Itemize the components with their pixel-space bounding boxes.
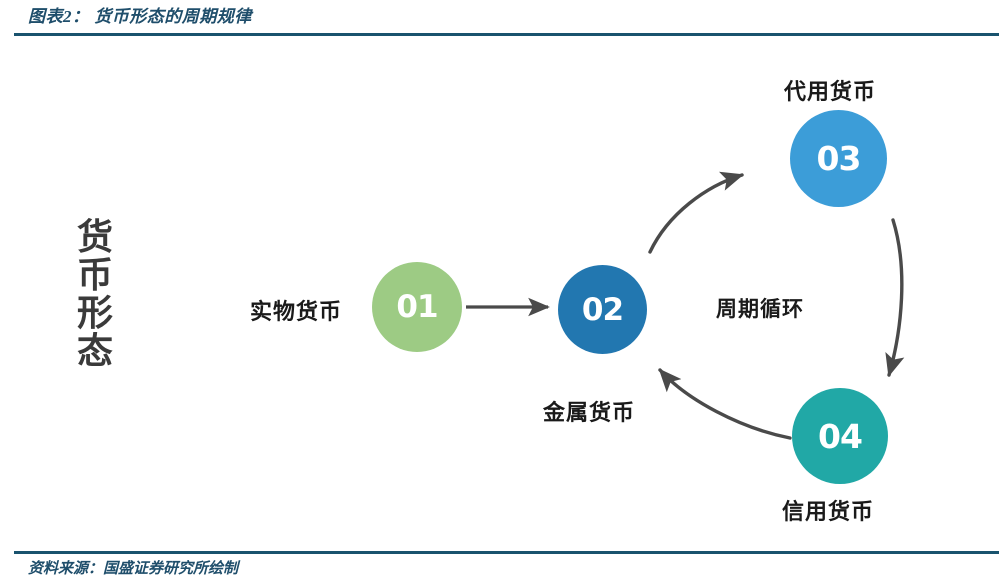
- node-circle-01[interactable]: 01: [372, 262, 462, 352]
- node-label-01: 实物货币: [250, 294, 342, 326]
- source-note: 资料来源：国盛证券研究所绘制: [28, 557, 238, 578]
- node-circle-04[interactable]: 04: [792, 388, 888, 484]
- node-circle-02[interactable]: 02: [558, 265, 647, 354]
- node-number-01: 01: [396, 289, 437, 325]
- node-number-02: 02: [582, 292, 623, 328]
- node-label-03: 代用货币: [784, 74, 876, 106]
- node-label-04: 信用货币: [782, 494, 874, 526]
- node-label-02: 金属货币: [543, 395, 635, 427]
- node-number-03: 03: [817, 139, 861, 178]
- footer-divider: [14, 551, 999, 554]
- arrow-03-to-04: [889, 220, 902, 375]
- node-number-04: 04: [818, 417, 862, 456]
- vertical-axis-label: 货币形态: [72, 218, 118, 371]
- page-title: 图表2： 货币形态的周期规律: [28, 2, 252, 27]
- figure-container: 图表2： 货币形态的周期规律 货币形态 01 02: [0, 0, 1006, 588]
- node-circle-03[interactable]: 03: [790, 110, 887, 207]
- title-divider: [14, 33, 999, 36]
- cycle-center-label: 周期循环: [716, 293, 804, 323]
- arrow-02-to-03: [650, 175, 742, 252]
- arrow-04-to-02: [660, 370, 790, 438]
